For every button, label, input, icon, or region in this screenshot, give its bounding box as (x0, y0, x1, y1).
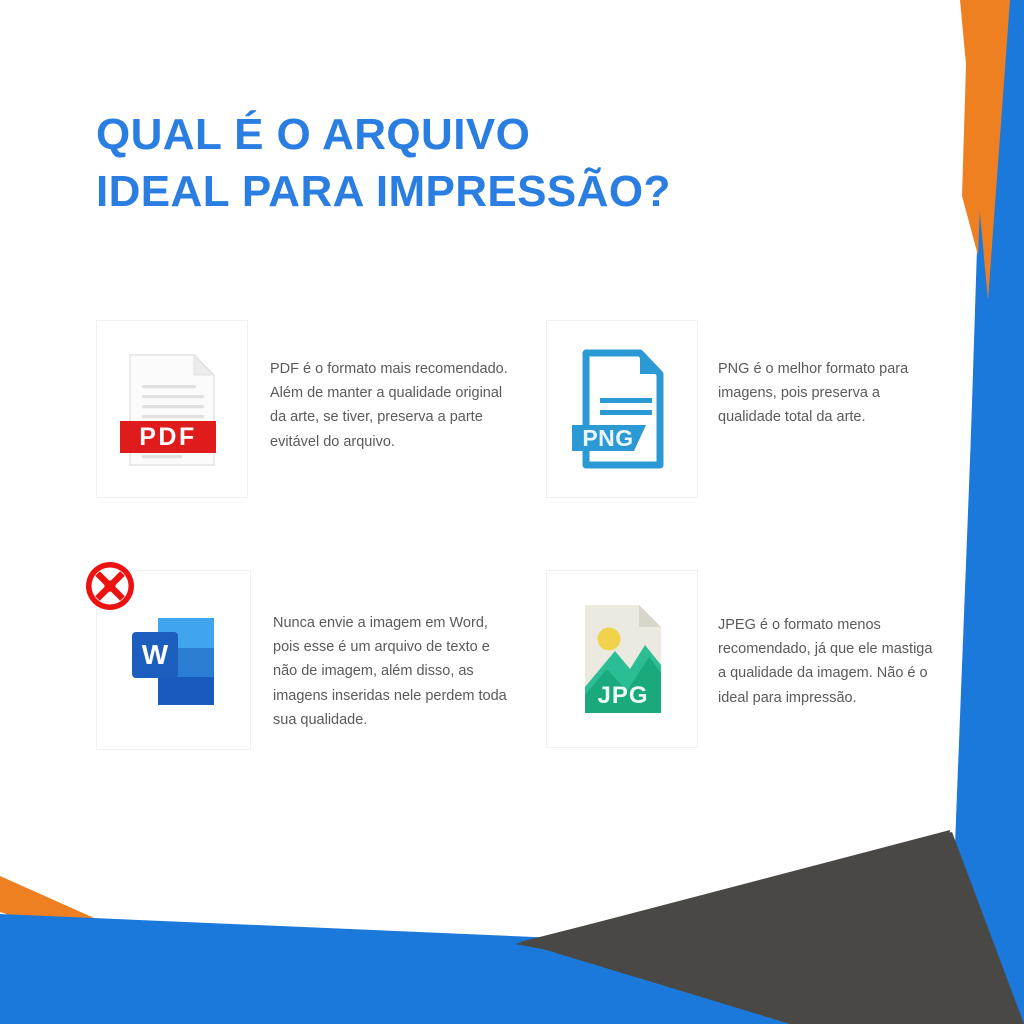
dark-gray-triangle (520, 832, 1024, 1024)
title-line-2: IDEAL PARA IMPRESSÃO? (96, 164, 856, 220)
word-description: Nunca envie a imagem em Word, pois esse … (273, 585, 518, 733)
orange-bottom-sliver (0, 876, 300, 1010)
format-item-word: W Nunca envie a imagem em Word, pois ess… (96, 570, 546, 750)
format-item-jpg: JPG JPEG é o formato menos recomendado, … (546, 570, 956, 748)
page-title: QUAL É O ARQUIVO IDEAL PARA IMPRESSÃO? (96, 107, 856, 220)
decor-blue-right (952, 0, 1024, 1024)
blue-right-column (948, 0, 1024, 1024)
blue-bottom-triangle (0, 914, 1024, 1024)
word-file-icon: W (122, 600, 226, 720)
pdf-file-icon: PDF (116, 343, 228, 475)
jpg-icon-label: JPG (597, 682, 648, 709)
png-description: PNG é o melhor formato para imagens, poi… (718, 335, 933, 430)
png-file-icon: PNG (566, 343, 678, 475)
dark-gray-triangle-b (515, 830, 950, 1020)
jpg-file-icon: JPG (567, 595, 677, 723)
format-list: PDF PDF é o formato mais recomendado. Al… (96, 320, 956, 750)
decor-orange-right-b (972, 0, 1006, 290)
format-row-top: PDF PDF é o formato mais recomendado. Al… (96, 320, 956, 570)
prohibited-badge-icon (83, 559, 137, 613)
png-icon-card[interactable]: PNG (546, 320, 698, 498)
pdf-icon-card[interactable]: PDF (96, 320, 248, 498)
pdf-icon-label: PDF (139, 423, 197, 451)
infographic-slide: QUAL É O ARQUIVO IDEAL PARA IMPRESSÃO? (0, 0, 1024, 1024)
format-item-pdf: PDF PDF é o formato mais recomendado. Al… (96, 320, 546, 498)
decor-orange-right (962, 0, 1012, 300)
word-icon-label: W (141, 639, 168, 670)
orange-right-spike (960, 0, 1010, 300)
format-row-bottom: W Nunca envie a imagem em Word, pois ess… (96, 570, 956, 750)
pdf-description: PDF é o formato mais recomendado. Além d… (270, 335, 515, 454)
jpg-description: JPEG é o formato menos recomendado, já q… (718, 585, 933, 710)
word-icon-card[interactable]: W (96, 570, 251, 750)
title-line-1: QUAL É O ARQUIVO (96, 107, 856, 163)
format-item-png: PNG PNG é o melhor formato para imagens,… (546, 320, 956, 498)
png-icon-label: PNG (582, 425, 633, 451)
jpg-icon-card[interactable]: JPG (546, 570, 698, 748)
